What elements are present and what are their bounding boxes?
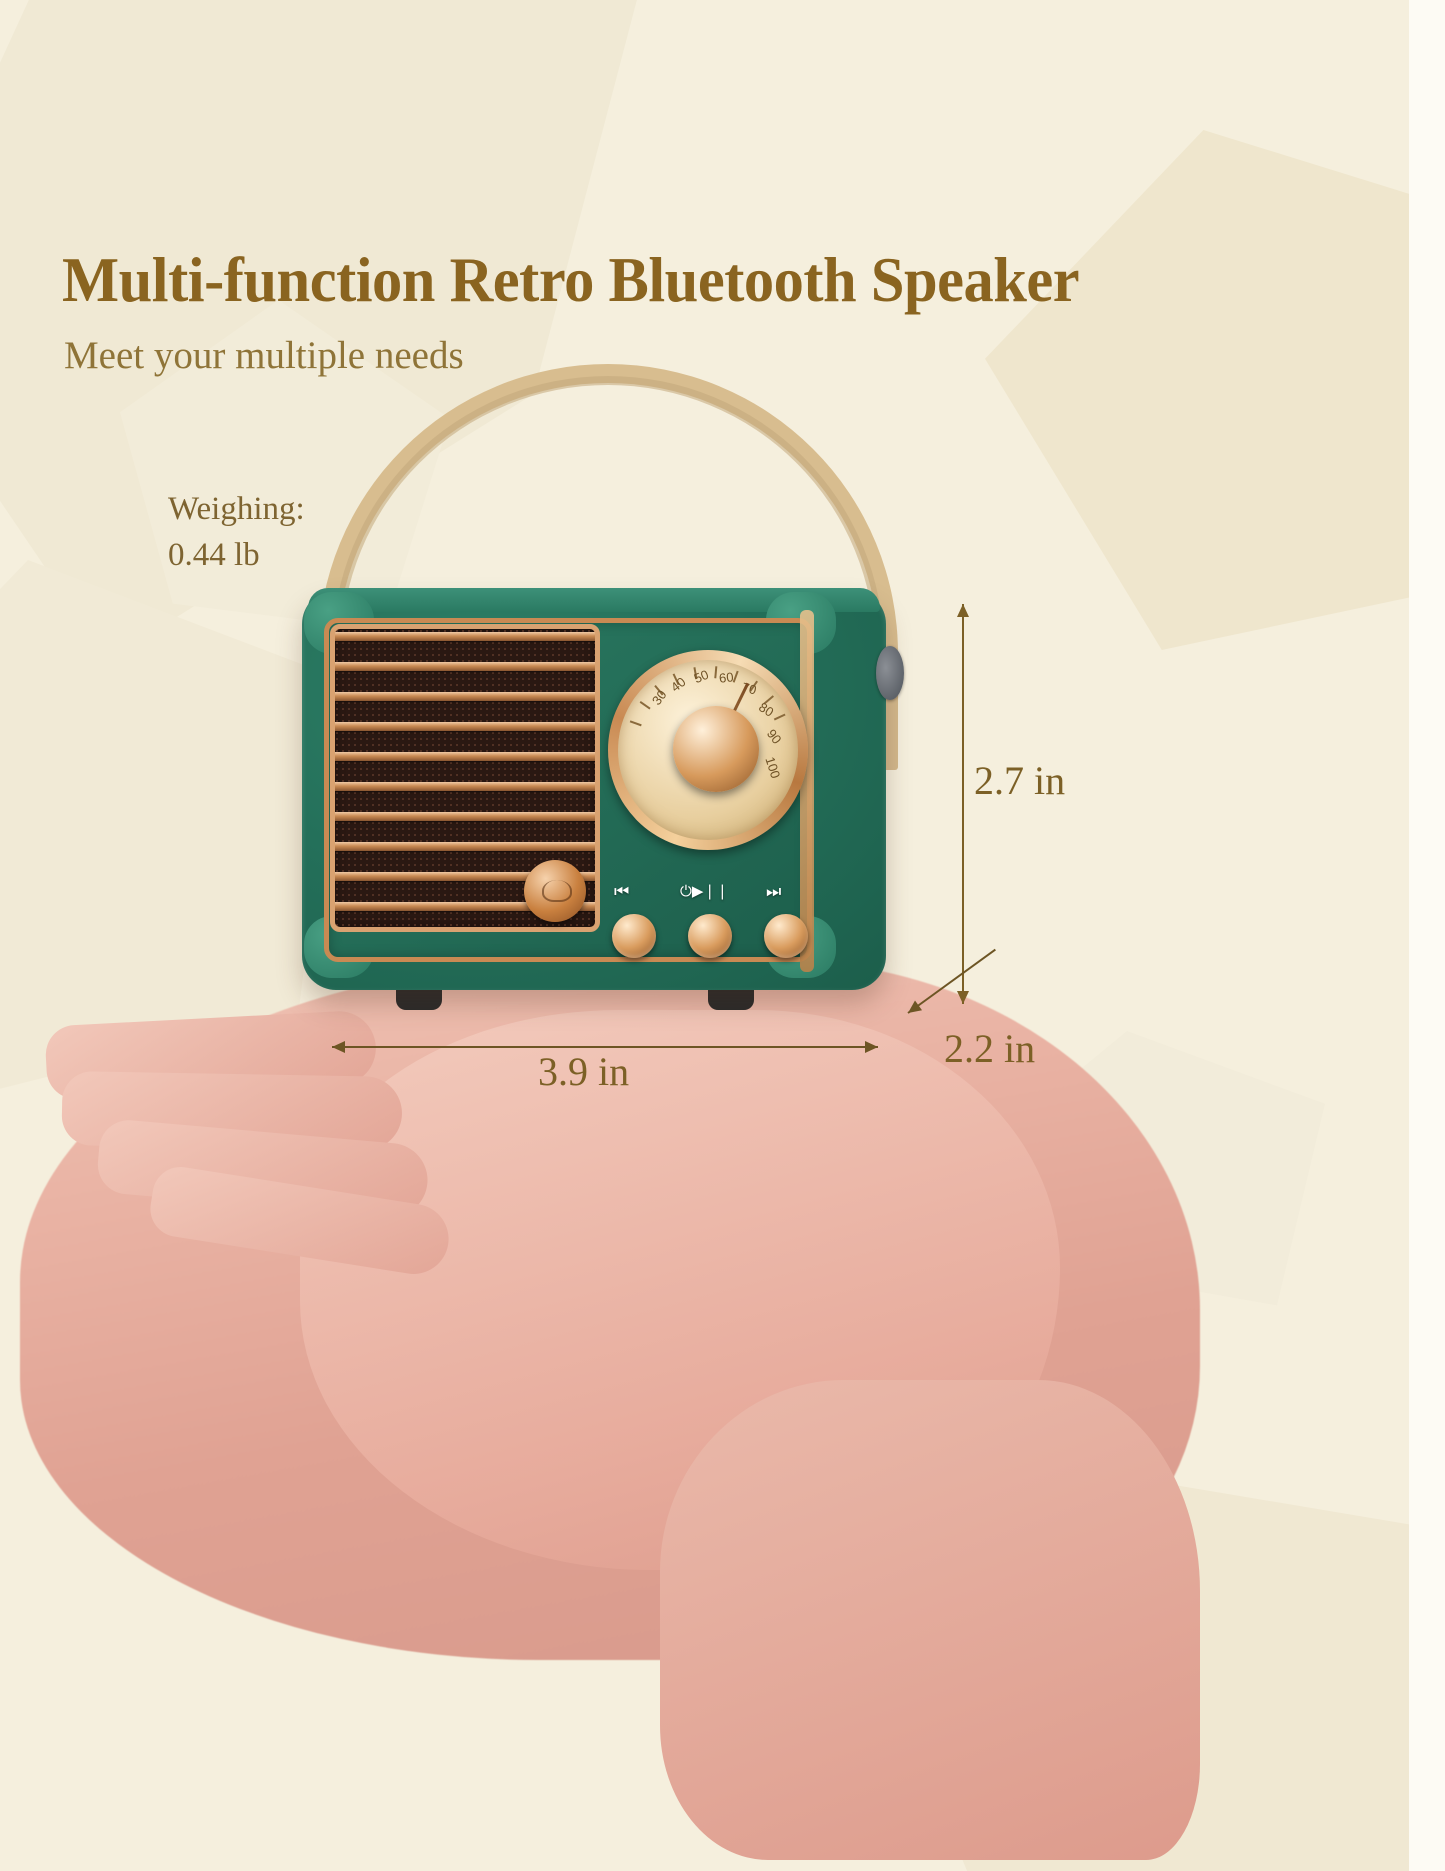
dial-number: 50 — [692, 667, 711, 686]
next-track-icon: ⏭ — [766, 884, 781, 901]
page-subtitle: Meet your multiple needs — [64, 333, 464, 378]
next-track-button[interactable] — [764, 914, 808, 958]
dial-number: 90 — [764, 726, 785, 747]
previous-track-icon: ⏮ — [614, 884, 629, 901]
page-title: Multi-function Retro Bluetooth Speaker — [62, 244, 1079, 317]
weight-callout: Weighing: 0.44 lb — [168, 487, 305, 578]
brand-badge-icon — [524, 860, 586, 922]
weight-label: Weighing: — [168, 487, 305, 533]
previous-track-button[interactable] — [612, 914, 656, 958]
dial-number: 100 — [762, 755, 783, 780]
dial-number: 80 — [756, 699, 776, 719]
dial-number: 60 — [718, 669, 734, 685]
width-dimension-label: 3.9 in — [538, 1048, 629, 1095]
dial-number: 30 — [649, 687, 670, 708]
dial-knob[interactable] — [673, 706, 759, 792]
control-panel: ⏮ ⏻▶❘❘ ⏭ — [608, 870, 814, 962]
dial-number: 40 — [668, 674, 689, 695]
tuning-dial[interactable]: 30 40 50 60 70 80 90 100 — [608, 650, 808, 850]
dial-face: 30 40 50 60 70 80 90 100 — [618, 660, 798, 840]
hand-wrist — [660, 1380, 1200, 1860]
weight-value: 0.44 lb — [168, 533, 305, 579]
product-image: 30 40 50 60 70 80 90 100 ⏮ ⏻▶❘❘ ⏭ — [288, 360, 928, 1020]
right-edge-strip — [1409, 0, 1445, 1871]
height-dimension-label: 2.7 in — [974, 757, 1065, 804]
depth-dimension-label: 2.2 in — [944, 1025, 1035, 1072]
handle-pivot-icon — [876, 646, 904, 700]
power-play-pause-button[interactable] — [688, 914, 732, 958]
power-play-pause-icon: ⏻▶❘❘ — [680, 884, 729, 899]
height-dimension-arrow — [962, 604, 964, 1004]
bg-polygon-top-right — [985, 130, 1445, 650]
